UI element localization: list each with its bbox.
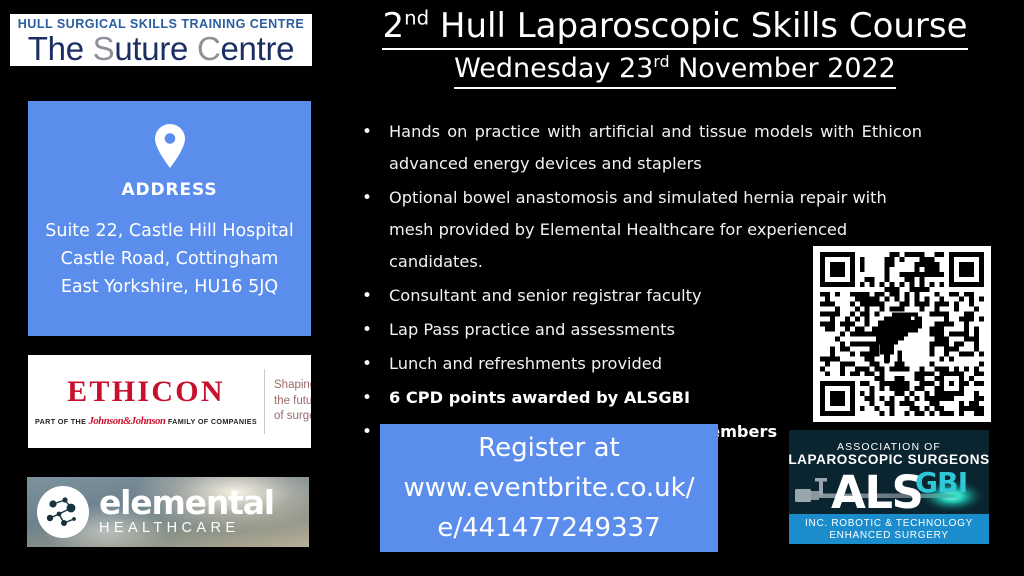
suture-word-the: The [28, 30, 84, 66]
course-title-text: Hull Laparoscopic Skills Course [429, 6, 967, 46]
course-title-number: 2 [382, 6, 404, 46]
qr-code-image [819, 252, 985, 416]
ethicon-sub-prefix: PART OF THE [35, 417, 89, 426]
suture-word-uture: uture [114, 30, 188, 66]
suture-word-s: S [93, 30, 115, 66]
ethicon-tagline-line-2: the future [274, 394, 311, 410]
ethicon-tagline: Shaping the future of surgery [265, 378, 311, 425]
course-date-prefix: Wednesday 23 [454, 53, 653, 84]
map-pin-icon [152, 122, 188, 170]
elemental-wordmark: elemental [99, 487, 274, 519]
course-date-rest: November 2022 [670, 53, 896, 84]
course-date-ordinal: rd [653, 52, 669, 71]
alsgbi-top-line-2: LAPAROSCOPIC SURGEONS [789, 452, 989, 467]
course-title-ordinal: nd [404, 7, 429, 30]
bullet-marker: • [360, 382, 389, 414]
suture-centre-wordmark: The Suture Centre [16, 32, 306, 66]
poster-slide: HULL SURGICAL SKILLS TRAINING CENTRE The… [0, 0, 1024, 576]
alsgbi-bottom-line-2: ENHANCED SURGERY [829, 530, 948, 541]
ethicon-wordmark: ETHICON [35, 376, 257, 408]
address-lines: Suite 22, Castle Hill Hospital Castle Ro… [28, 217, 311, 301]
bullet-marker: • [360, 280, 389, 312]
alsgbi-bottom-line-1: INC. ROBOTIC & TECHNOLOGY [805, 518, 973, 529]
title-block: 2nd Hull Laparoscopic Skills Course Wedn… [330, 6, 1020, 89]
ethicon-logo: ETHICON PART OF THE Johnson&Johnson FAMI… [28, 355, 311, 448]
bullet-marker: • [360, 116, 389, 148]
address-heading: ADDRESS [28, 180, 311, 200]
alsgbi-logo: ASSOCIATION OF LAPAROSCOPIC SURGEONS ALS… [789, 430, 989, 544]
suture-word-entre: entre [220, 30, 294, 66]
bullet-text: Hands on practice with artificial and ti… [389, 116, 922, 180]
ethicon-sub-suffix: FAMILY OF COMPANIES [165, 417, 257, 426]
elemental-text-group: elemental HEALTHCARE [99, 487, 274, 537]
address-line-1: Suite 22, Castle Hill Hospital [28, 217, 311, 245]
molecule-circle-icon [35, 484, 91, 540]
qr-code[interactable] [813, 246, 991, 422]
register-cta-box[interactable]: Register at www.eventbrite.co.uk/ e/4414… [380, 424, 718, 552]
list-item: • Hands on practice with artificial and … [360, 116, 922, 180]
ethicon-subline: PART OF THE Johnson&Johnson FAMILY OF CO… [35, 416, 257, 427]
johnson-johnson-wordmark: Johnson&Johnson [89, 416, 166, 427]
elemental-healthcare-logo: elemental HEALTHCARE [27, 477, 309, 547]
alsgbi-logo-image: ASSOCIATION OF LAPAROSCOPIC SURGEONS ALS… [789, 430, 989, 544]
address-line-2: Castle Road, Cottingham [28, 245, 311, 273]
ethicon-tagline-line-1: Shaping [274, 378, 311, 394]
address-line-3: East Yorkshire, HU16 5JQ [28, 273, 311, 301]
alsgbi-mark-gbi: GBI [915, 466, 967, 499]
suture-word-c: C [197, 30, 221, 66]
course-date-line: Wednesday 23rd November 2022 [330, 52, 1020, 89]
suture-centre-logo: HULL SURGICAL SKILLS TRAINING CENTRE The… [10, 14, 312, 66]
register-url-line-1[interactable]: www.eventbrite.co.uk/ [404, 468, 695, 508]
elemental-subline: HEALTHCARE [99, 520, 274, 537]
register-label: Register at [478, 428, 619, 468]
bullet-marker: • [360, 348, 389, 380]
ethicon-left-group: ETHICON PART OF THE Johnson&Johnson FAMI… [28, 376, 264, 427]
bullet-marker: • [360, 314, 389, 346]
address-card: ADDRESS Suite 22, Castle Hill Hospital C… [28, 101, 311, 336]
bullet-marker: • [360, 182, 389, 214]
course-title-line: 2nd Hull Laparoscopic Skills Course [330, 6, 1020, 50]
alsgbi-mark-als: ALS [831, 466, 922, 519]
register-url-line-2[interactable]: e/441477249337 [437, 508, 660, 548]
ethicon-tagline-line-3: of surgery [274, 409, 311, 425]
